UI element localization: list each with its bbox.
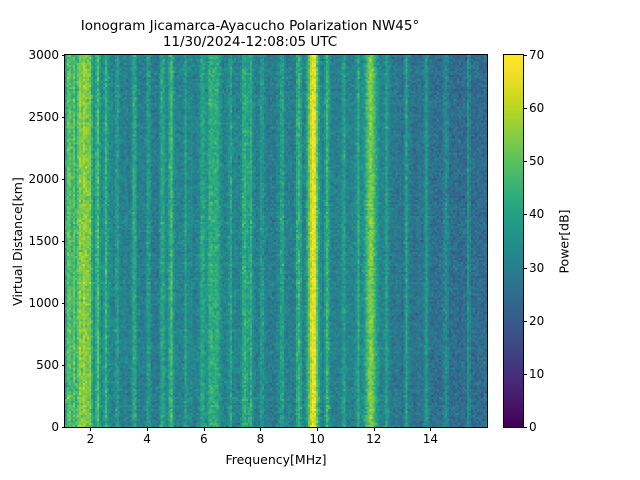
y-tick-label: 3000	[28, 48, 59, 62]
x-tick-label: 14	[423, 432, 438, 446]
x-tick-mark	[317, 427, 318, 431]
y-tick-mark	[62, 179, 66, 180]
x-tick-label: 4	[143, 432, 151, 446]
y-tick-mark	[62, 303, 66, 304]
y-tick-label: 0	[51, 420, 59, 434]
figure-canvas: Ionogram Jicamarca-Ayacucho Polarization…	[0, 0, 640, 480]
x-tick-mark	[147, 427, 148, 431]
colorbar-tick-label: 70	[529, 48, 544, 62]
y-tick-mark	[62, 427, 66, 428]
chart-title: Ionogram Jicamarca-Ayacucho Polarization…	[0, 18, 500, 50]
y-tick-label: 2500	[28, 110, 59, 124]
y-tick-label: 500	[36, 358, 59, 372]
x-axis-label: Frequency[MHz]	[64, 452, 488, 467]
colorbar-tick-mark	[523, 374, 527, 375]
colorbar-tick-mark	[523, 161, 527, 162]
heatmap-axes: 0500100015002000250030002468101214	[64, 54, 488, 428]
colorbar-tick-label: 50	[529, 154, 544, 168]
x-tick-mark	[430, 427, 431, 431]
x-tick-mark	[204, 427, 205, 431]
colorbar-tick-mark	[523, 214, 527, 215]
y-tick-label: 1500	[28, 234, 59, 248]
colorbar-tick-label: 60	[529, 101, 544, 115]
colorbar-tick-label: 20	[529, 314, 544, 328]
colorbar-tick-mark	[523, 427, 527, 428]
colorbar: 010203040506070	[503, 54, 524, 428]
y-tick-mark	[62, 117, 66, 118]
colorbar-tick-mark	[523, 321, 527, 322]
colorbar-tick-mark	[523, 108, 527, 109]
x-tick-mark	[260, 427, 261, 431]
colorbar-gradient	[504, 55, 523, 427]
colorbar-tick-mark	[523, 268, 527, 269]
x-tick-mark	[374, 427, 375, 431]
x-tick-label: 8	[257, 432, 265, 446]
colorbar-tick-label: 10	[529, 367, 544, 381]
colorbar-tick-label: 0	[529, 420, 537, 434]
y-tick-mark	[62, 241, 66, 242]
y-tick-mark	[62, 55, 66, 56]
colorbar-tick-mark	[523, 55, 527, 56]
colorbar-tick-label: 30	[529, 261, 544, 275]
x-tick-label: 10	[309, 432, 324, 446]
colorbar-label: Power[dB]	[556, 54, 572, 428]
x-tick-label: 2	[87, 432, 95, 446]
y-tick-mark	[62, 365, 66, 366]
colorbar-tick-label: 40	[529, 207, 544, 221]
x-tick-label: 6	[200, 432, 208, 446]
x-tick-mark	[90, 427, 91, 431]
ionogram-heatmap	[65, 55, 487, 427]
colorbar-label-text: Power[dB]	[557, 209, 572, 273]
y-axis-label-text: Virtual Distance[km]	[10, 177, 25, 306]
y-tick-label: 1000	[28, 296, 59, 310]
y-tick-label: 2000	[28, 172, 59, 186]
y-axis-label: Virtual Distance[km]	[9, 54, 25, 428]
x-tick-label: 12	[366, 432, 381, 446]
